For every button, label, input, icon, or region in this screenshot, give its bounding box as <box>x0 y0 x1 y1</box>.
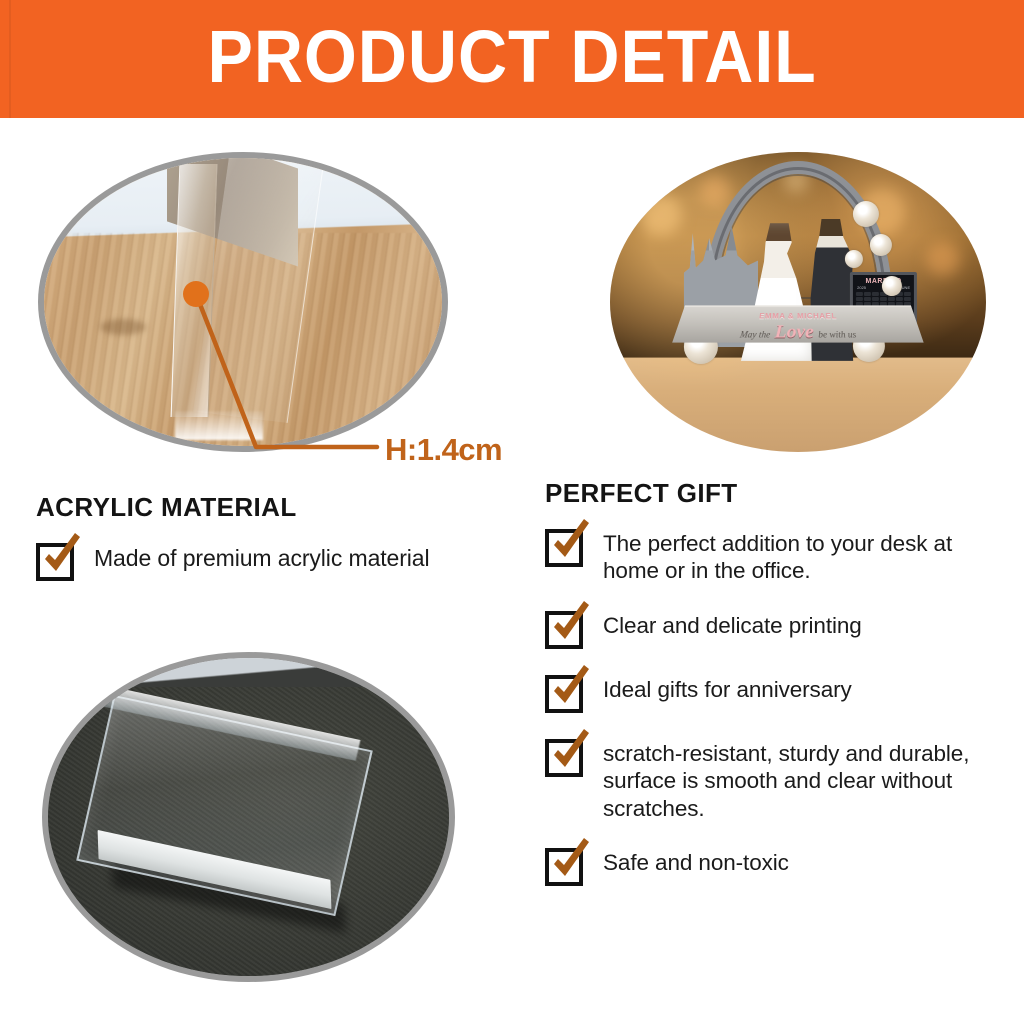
warm-bokeh-background: MARRIED 2025 JUNE <box>610 152 986 452</box>
checkbox-icon[interactable] <box>545 529 583 567</box>
section-title-gift: PERFECT GIFT <box>545 478 1000 509</box>
checkbox-icon[interactable] <box>545 611 583 649</box>
list-item: Safe and non-toxic <box>545 844 1000 886</box>
checkbox-icon[interactable] <box>545 675 583 713</box>
checkmark-icon <box>543 601 595 653</box>
list-item-label: scratch-resistant, sturdy and durable, s… <box>603 735 1000 822</box>
acrylic-base-highlight <box>175 411 263 440</box>
acrylic-edge-photo <box>38 152 448 452</box>
checkmark-icon <box>543 519 595 571</box>
banner-seam-line <box>9 0 11 118</box>
list-item-label: Clear and delicate printing <box>603 607 862 639</box>
checkmark-icon <box>543 665 595 717</box>
wedding-figurine: MARRIED 2025 JUNE <box>674 161 922 383</box>
checkbox-icon[interactable] <box>36 543 74 581</box>
acrylic-block-photo <box>42 652 455 982</box>
list-item: Clear and delicate printing <box>545 607 1000 649</box>
checkbox-icon[interactable] <box>545 848 583 886</box>
list-item-label: Safe and non-toxic <box>603 844 789 876</box>
checkbox-icon[interactable] <box>545 739 583 777</box>
list-item: Ideal gifts for anniversary <box>545 671 1000 713</box>
list-item-label: Made of premium acrylic material <box>94 539 430 572</box>
plaque-base: EMMA & MICHAEL May the Love be with us <box>672 305 924 342</box>
oak-table-background <box>44 158 442 446</box>
page-header-banner: PRODUCT DETAIL <box>0 0 1024 118</box>
tagline-suffix: be with us <box>818 329 857 339</box>
product-detail-page: PRODUCT DETAIL <box>0 0 1024 1024</box>
list-item: The perfect addition to your desk at hom… <box>545 525 1000 585</box>
list-item-label: Ideal gifts for anniversary <box>603 671 852 703</box>
slate-background <box>48 658 449 976</box>
tagline-prefix: May the <box>739 329 770 339</box>
tagline-highlight: Love <box>772 322 816 342</box>
couple-names: EMMA & MICHAEL <box>680 312 916 320</box>
page-title: PRODUCT DETAIL <box>207 20 816 98</box>
wedding-plaque-photo: MARRIED 2025 JUNE <box>610 152 986 452</box>
plaque-tagline: May the Love be with us <box>672 322 924 344</box>
section-title-acrylic: ACRYLIC MATERIAL <box>36 492 536 523</box>
checkmark-icon <box>543 838 595 890</box>
acrylic-bullet-list: Made of premium acrylic material <box>36 539 536 581</box>
checkmark-icon <box>543 729 595 781</box>
height-label: H:1.4cm <box>385 432 502 468</box>
acrylic-material-section: ACRYLIC MATERIAL Made of premium acrylic… <box>36 492 536 581</box>
list-item-label: The perfect addition to your desk at hom… <box>603 525 1000 585</box>
list-item: Made of premium acrylic material <box>36 539 536 581</box>
checkmark-icon <box>34 533 86 585</box>
gift-bullet-list: The perfect addition to your desk at hom… <box>545 525 1000 886</box>
perfect-gift-section: PERFECT GIFT The perfect addition to you… <box>545 478 1000 908</box>
rose-decorations <box>674 161 922 383</box>
list-item: scratch-resistant, sturdy and durable, s… <box>545 735 1000 822</box>
